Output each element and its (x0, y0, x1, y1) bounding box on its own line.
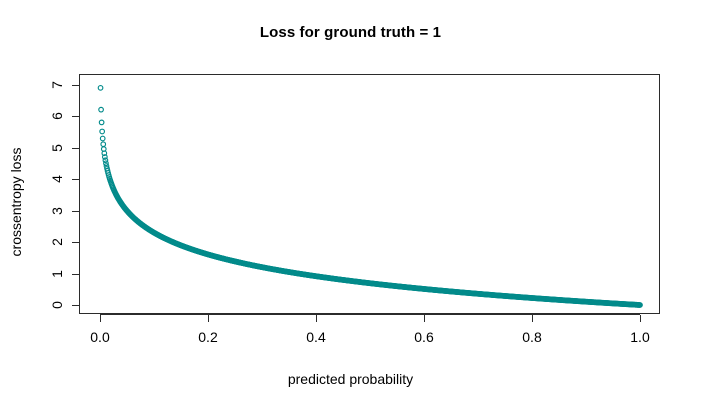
y-tick-6 (72, 116, 79, 117)
x-tick-2 (316, 315, 317, 322)
y-axis-line (79, 85, 80, 305)
y-tick-label-5: 5 (49, 139, 65, 157)
y-tick-5 (72, 148, 79, 149)
y-tick-2 (72, 242, 79, 243)
x-tick-1 (208, 315, 209, 322)
x-tick-4 (532, 315, 533, 322)
y-tick-label-0: 0 (49, 296, 65, 314)
y-tick-3 (72, 211, 79, 212)
x-tick-label-4: 0.8 (522, 329, 541, 345)
y-tick-7 (72, 85, 79, 86)
chart-figure: Loss for ground truth = 1 0.00.20.40.60.… (0, 0, 701, 413)
y-tick-label-2: 2 (49, 233, 65, 251)
y-tick-4 (72, 179, 79, 180)
x-tick-3 (424, 315, 425, 322)
y-axis-title: crossentropy loss (8, 102, 24, 302)
x-tick-0 (100, 315, 101, 322)
y-tick-label-6: 6 (49, 107, 65, 125)
x-axis-line (100, 314, 640, 315)
chart-title: Loss for ground truth = 1 (0, 24, 701, 41)
x-tick-label-3: 0.6 (414, 329, 433, 345)
x-tick-label-0: 0.0 (90, 329, 109, 345)
y-tick-0 (72, 305, 79, 306)
x-tick-label-2: 0.4 (306, 329, 325, 345)
x-tick-label-5: 1.0 (630, 329, 649, 345)
y-tick-1 (72, 274, 79, 275)
x-tick-label-1: 0.2 (198, 329, 217, 345)
x-axis-title: predicted probability (0, 371, 701, 387)
y-tick-label-7: 7 (49, 76, 65, 94)
scatter-series-crossentropy-loss (79, 74, 660, 314)
y-tick-label-3: 3 (49, 202, 65, 220)
y-tick-label-1: 1 (49, 265, 65, 283)
x-tick-5 (640, 315, 641, 322)
y-tick-label-4: 4 (49, 170, 65, 188)
